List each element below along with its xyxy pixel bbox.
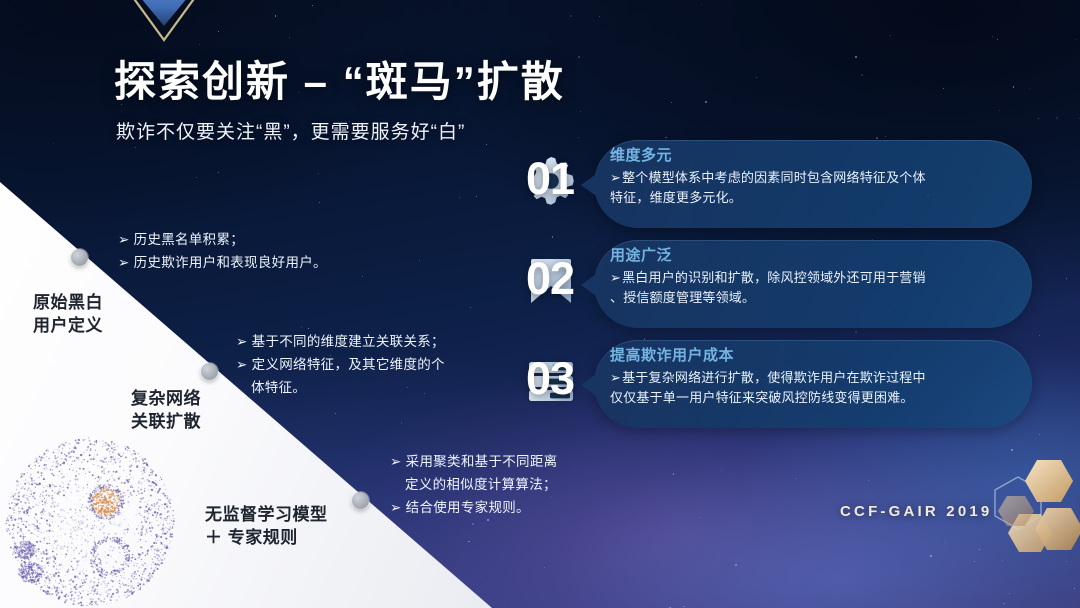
timeline-label-1: 原始黑白 用户定义 bbox=[33, 292, 103, 338]
brand-text: CCF-GAIR 2019 bbox=[840, 503, 992, 520]
card-body: 提高欺诈用户成本 ➢基于复杂网络进行扩散，使得欺诈用户在欺诈过程中 仅仅基于单一… bbox=[610, 347, 1010, 407]
card-heading: 用途广泛 bbox=[610, 247, 1010, 265]
card-number: 03 bbox=[526, 356, 574, 401]
timeline-bullets-1: ➢ 历史黑名单积累； ➢ 历史欺诈用户和表现良好用户。 bbox=[118, 228, 327, 274]
card-text: ➢黑白用户的识别和扩散，除风控领域外还可用于营销 、授信额度管理等领域。 bbox=[610, 268, 1010, 307]
feature-cards-list: 01 维度多元 ➢整个模型体系中考虑的因素同时包含网络特征及个体 特征，维度更多… bbox=[512, 140, 1032, 440]
timeline-label-2-line2: 关联扩散 bbox=[131, 411, 201, 434]
timeline-label-1-line2: 用户定义 bbox=[33, 315, 103, 338]
timeline-label-3-line2: ＋ 专家规则 bbox=[205, 527, 328, 550]
timeline-label-3: 无监督学习模型 ＋ 专家规则 bbox=[205, 504, 328, 550]
timeline-label-3-line1: 无监督学习模型 bbox=[205, 504, 328, 527]
feature-card-02[interactable]: 02 用途广泛 ➢黑白用户的识别和扩散，除风控领域外还可用于营销 、授信额度管理… bbox=[512, 240, 1032, 335]
timeline-bullets-3: ➢ 采用聚类和基于不同距离 定义的相似度计算算法； ➢ 结合使用专家规则。 bbox=[390, 450, 580, 520]
bullet-item-continuation: 定义的相似度计算算法； bbox=[390, 473, 580, 496]
card-text-line1: 黑白用户的识别和扩散，除风控领域外还可用于营销 bbox=[622, 270, 926, 285]
hexagon-logo-icon bbox=[985, 452, 1080, 570]
timeline-bullets-2: ➢ 基于不同的维度建立关联关系； ➢ 定义网络特征，及其它维度的个 体特征。 bbox=[236, 330, 471, 400]
feature-card-01[interactable]: 01 维度多元 ➢整个模型体系中考虑的因素同时包含网络特征及个体 特征，维度更多… bbox=[512, 140, 1032, 235]
network-graph-visualization bbox=[2, 432, 178, 608]
bullet-arrow-icon: ➢ bbox=[610, 270, 621, 285]
timeline-label-2: 复杂网络 关联扩散 bbox=[131, 388, 201, 434]
chevron-logo-icon bbox=[112, 0, 216, 46]
feature-card-03[interactable]: 03 提高欺诈用户成本 ➢基于复杂网络进行扩散，使得欺诈用户在欺诈过程中 仅仅基… bbox=[512, 340, 1032, 435]
bullet-item: ➢ 采用聚类和基于不同距离 bbox=[390, 450, 580, 473]
timeline-node-2 bbox=[201, 363, 218, 380]
bullet-item: ➢ 历史欺诈用户和表现良好用户。 bbox=[118, 251, 327, 274]
card-text: ➢整个模型体系中考虑的因素同时包含网络特征及个体 特征，维度更多元化。 bbox=[610, 168, 1010, 207]
timeline-label-2-line1: 复杂网络 bbox=[131, 388, 201, 411]
card-number: 01 bbox=[526, 156, 574, 201]
page-title: 探索创新 – “斑马”扩散 bbox=[114, 58, 565, 105]
timeline-label-1-line1: 原始黑白 bbox=[33, 292, 103, 315]
card-heading: 提高欺诈用户成本 bbox=[610, 347, 1010, 365]
bullet-arrow-icon: ➢ bbox=[610, 370, 621, 385]
card-body: 维度多元 ➢整个模型体系中考虑的因素同时包含网络特征及个体 特征，维度更多元化。 bbox=[610, 147, 1010, 207]
page-subtitle: 欺诈不仅要关注“黑”，更需要服务好“白” bbox=[116, 117, 565, 144]
timeline-node-3 bbox=[352, 492, 369, 509]
card-text-line2: 、授信额度管理等领域。 bbox=[610, 290, 755, 305]
card-text-line2: 仅仅基于单一用户特征来突破风控防线变得更困难。 bbox=[610, 390, 914, 405]
card-number: 02 bbox=[526, 256, 574, 301]
bullet-item: ➢ 历史黑名单积累； bbox=[118, 228, 327, 251]
card-text: ➢基于复杂网络进行扩散，使得欺诈用户在欺诈过程中 仅仅基于单一用户特征来突破风控… bbox=[610, 368, 1010, 407]
card-text-line2: 特征，维度更多元化。 bbox=[610, 190, 742, 205]
bullet-arrow-icon: ➢ bbox=[610, 170, 621, 185]
bullet-item: ➢ 结合使用专家规则。 bbox=[390, 496, 580, 519]
title-block: 探索创新 – “斑马”扩散 欺诈不仅要关注“黑”，更需要服务好“白” bbox=[114, 58, 565, 144]
card-body: 用途广泛 ➢黑白用户的识别和扩散，除风控领域外还可用于营销 、授信额度管理等领域… bbox=[610, 247, 1010, 307]
card-text-line1: 整个模型体系中考虑的因素同时包含网络特征及个体 bbox=[622, 170, 926, 185]
timeline-node-1 bbox=[71, 249, 88, 266]
presentation-slide: 探索创新 – “斑马”扩散 欺诈不仅要关注“黑”，更需要服务好“白” 原始黑白 … bbox=[0, 0, 1080, 608]
bullet-item: ➢ 定义网络特征，及其它维度的个 bbox=[236, 353, 471, 376]
bullet-item-continuation: 体特征。 bbox=[236, 376, 471, 399]
bullet-item: ➢ 基于不同的维度建立关联关系； bbox=[236, 330, 471, 353]
card-text-line1: 基于复杂网络进行扩散，使得欺诈用户在欺诈过程中 bbox=[622, 370, 926, 385]
card-heading: 维度多元 bbox=[610, 147, 1010, 165]
